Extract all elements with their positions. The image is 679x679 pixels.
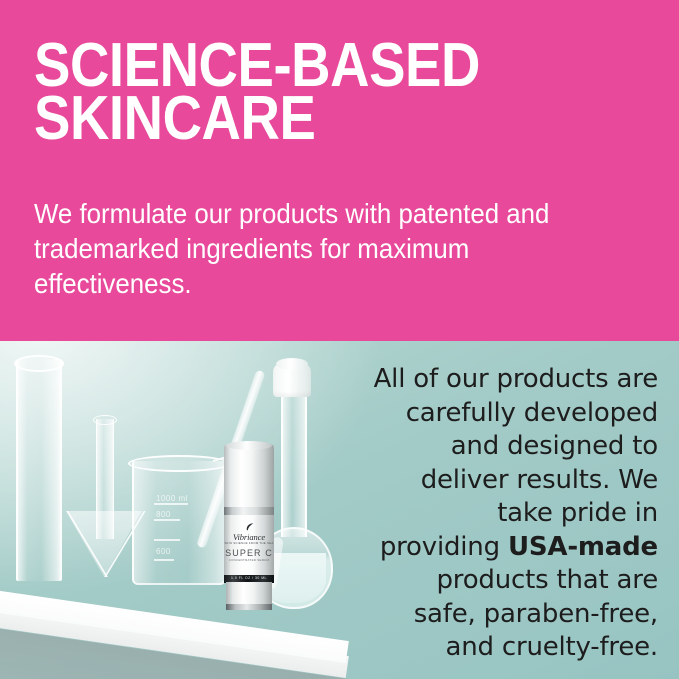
beaker-graduation — [154, 503, 188, 505]
beaker-graduation-label: 1000 ml — [156, 494, 188, 503]
product-bottle: Vibriance SKIN SCIENCE FROM THE SEA SUPE… — [222, 444, 276, 611]
beaker-graduation — [154, 539, 180, 541]
advertisement-image: SCIENCE-BASED SKINCARE We formulate our … — [0, 0, 679, 679]
funnel-stem-rim-icon — [93, 415, 117, 425]
beaker-rim-icon — [128, 455, 230, 472]
bottle-product-subtitle: CONCENTRATED SERUM — [224, 558, 274, 562]
usa-made-emphasis: USA-made — [508, 532, 658, 562]
beaker-graduation — [154, 519, 180, 521]
beaker-graduation-label: 600 — [156, 547, 171, 556]
bottle-product-name: SUPER C — [224, 548, 274, 558]
description-part-3: products that are safe, paraben-free, an… — [414, 565, 658, 662]
product-description-paragraph: All of our products are carefully develo… — [372, 363, 658, 665]
bottle-label-body: Vibriance SKIN SCIENCE FROM THE SEA SUPE… — [224, 515, 274, 577]
bottle-volume-text: 1.0 FL OZ / 30 ML — [222, 576, 276, 580]
page-title: SCIENCE-BASED SKINCARE — [34, 39, 571, 146]
volumetric-flask-neck-icon — [281, 389, 307, 537]
bottle-cap — [224, 444, 274, 508]
lab-glassware-scene: 1000 ml 800 600 — [0, 341, 360, 679]
test-tube-rim-icon — [14, 355, 64, 372]
teal-product-panel: 1000 ml 800 600 — [0, 341, 679, 679]
volumetric-flask-stopper-top-icon — [276, 358, 308, 370]
beaker-icon: 1000 ml 800 600 — [132, 461, 226, 585]
bottle-brand-tagline: SKIN SCIENCE FROM THE SEA — [224, 541, 274, 545]
bottle-base-ring — [226, 604, 272, 610]
beaker-graduation — [154, 559, 174, 561]
header-subcopy: We formulate our products with patented … — [34, 196, 598, 302]
pink-header-panel: SCIENCE-BASED SKINCARE We formulate our … — [0, 0, 679, 341]
beaker-graduation-label: 800 — [156, 510, 171, 519]
bottle-cap-top — [226, 441, 272, 450]
vibriance-leaf-logo-icon — [245, 522, 255, 532]
